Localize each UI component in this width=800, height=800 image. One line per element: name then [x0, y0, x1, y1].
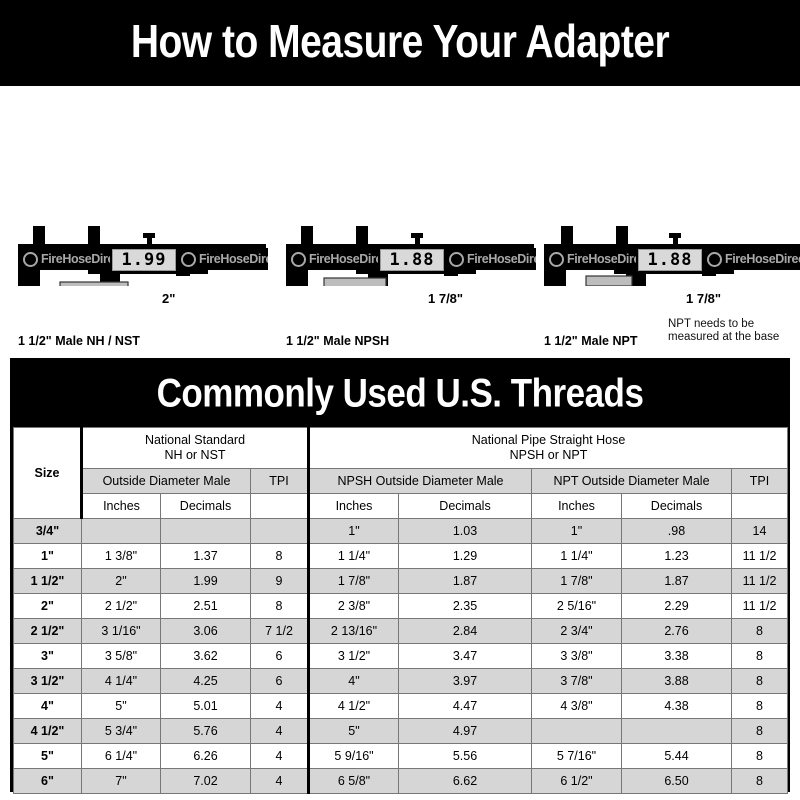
- cell-npt_dec: .98: [622, 519, 732, 544]
- cell-npt_dec: 1.87: [622, 569, 732, 594]
- cell-nh_tpi: [251, 519, 309, 544]
- watermark-text: FireHoseDirect: [199, 252, 268, 266]
- cell-npsh_in: 1 1/4": [309, 544, 399, 569]
- col-header-np-tpi: TPI: [732, 469, 788, 494]
- npt-note-line-1: NPT needs to be: [668, 318, 754, 332]
- cell-np_tpi: 8: [732, 694, 788, 719]
- col-header-npsh-outside-diameter-male: NPSH Outside Diameter Male: [309, 469, 532, 494]
- cell-nh_dec: 3.62: [161, 644, 251, 669]
- watermark-text: FireHoseDirect: [725, 252, 800, 266]
- table-row: 4 1/2"5 3/4"5.7645"4.978: [14, 719, 788, 744]
- cell-nh_dec: 1.37: [161, 544, 251, 569]
- cell-npt_dec: 2.76: [622, 619, 732, 644]
- caliper-illustration-1: 1.99 FireHoseDirect FireHoseDirect: [0, 86, 266, 286]
- cell-nh_in: [82, 519, 161, 544]
- caliper-illustration-3: 1.88 FireHoseDirect FireHoseDirect: [536, 86, 800, 286]
- col-header-npsh-inches: Inches: [309, 494, 399, 519]
- table-row: 1"1 3/8"1.3781 1/4"1.291 1/4"1.2311 1/2: [14, 544, 788, 569]
- cell-np_tpi: 8: [732, 719, 788, 744]
- cell-nh_in: 5": [82, 694, 161, 719]
- threads-table-head: Size National Standard NH or NST Nationa…: [14, 428, 788, 519]
- cell-nh_tpi: 4: [251, 694, 309, 719]
- group-nh-line-1: National Standard: [83, 433, 307, 448]
- cell-npt_dec: 1.23: [622, 544, 732, 569]
- cell-np_tpi: 8: [732, 744, 788, 769]
- cell-npsh_in: 3 1/2": [309, 644, 399, 669]
- cell-size: 1": [14, 544, 82, 569]
- cell-npt_dec: 2.29: [622, 594, 732, 619]
- cell-nh_tpi: 7 1/2: [251, 619, 309, 644]
- watermark-text: FireHoseDirect: [467, 252, 536, 266]
- table-row: 1 1/2"2"1.9991 7/8"1.871 7/8"1.8711 1/2: [14, 569, 788, 594]
- cell-npt_in: 1 7/8": [532, 569, 622, 594]
- col-header-npt-outside-diameter-male: NPT Outside Diameter Male: [532, 469, 732, 494]
- caliper-lcd-2: 1.88: [380, 249, 444, 271]
- cell-npsh_dec: 3.47: [399, 644, 532, 669]
- threads-table-title: Commonly Used U.S. Threads: [157, 371, 644, 417]
- cell-size: 6": [14, 769, 82, 794]
- page-title: How to Measure Your Adapter: [131, 17, 669, 69]
- cell-nh_in: 5 3/4": [82, 719, 161, 744]
- cell-size: 3 1/2": [14, 669, 82, 694]
- cell-np_tpi: 8: [732, 619, 788, 644]
- group-np-line-1: National Pipe Straight Hose: [310, 433, 787, 448]
- cell-npsh_dec: 6.62: [399, 769, 532, 794]
- cell-nh_dec: 2.51: [161, 594, 251, 619]
- cell-nh_dec: 5.01: [161, 694, 251, 719]
- cell-npsh_dec: 2.35: [399, 594, 532, 619]
- cell-npsh_dec: 4.47: [399, 694, 532, 719]
- watermark-text: FireHoseDirect: [41, 252, 110, 266]
- table-header-row-subgroups: Outside Diameter Male TPI NPSH Outside D…: [14, 469, 788, 494]
- col-header-nh-inches: Inches: [82, 494, 161, 519]
- table-row: 6"7"7.0246 5/8"6.626 1/2"6.508: [14, 769, 788, 794]
- col-header-npt-decimals: Decimals: [622, 494, 732, 519]
- caliper-lcd-3: 1.88: [638, 249, 702, 271]
- measurement-fraction-2: 1 7/8": [428, 291, 463, 306]
- flame-logo-icon: [23, 252, 38, 267]
- cell-np_tpi: 11 1/2: [732, 544, 788, 569]
- cell-npt_in: 5 7/16": [532, 744, 622, 769]
- col-group-national-standard: National Standard NH or NST: [82, 428, 309, 469]
- cell-npt_in: 2 5/16": [532, 594, 622, 619]
- table-row: 3"3 5/8"3.6263 1/2"3.473 3/8"3.388: [14, 644, 788, 669]
- cell-npsh_in: 1 7/8": [309, 569, 399, 594]
- watermark-text: FireHoseDirect: [309, 252, 378, 266]
- cell-npsh_in: 6 5/8": [309, 769, 399, 794]
- cell-npt_in: 3 7/8": [532, 669, 622, 694]
- cell-nh_in: 4 1/4": [82, 669, 161, 694]
- cell-np_tpi: 8: [732, 644, 788, 669]
- cell-size: 4 1/2": [14, 719, 82, 744]
- diagram-caption-3: 1 1/2" Male NPT: [544, 334, 637, 348]
- cell-npsh_dec: 3.97: [399, 669, 532, 694]
- threads-table: Size National Standard NH or NST Nationa…: [13, 427, 788, 794]
- cell-npt_dec: 4.38: [622, 694, 732, 719]
- caliper-lcd-1: 1.99: [112, 249, 176, 271]
- cell-nh_dec: 1.99: [161, 569, 251, 594]
- col-header-nh-outside-diameter-male: Outside Diameter Male: [82, 469, 251, 494]
- table-header-row-units: Inches Decimals Inches Decimals Inches D…: [14, 494, 788, 519]
- cell-nh_tpi: 8: [251, 544, 309, 569]
- cell-size: 3/4": [14, 519, 82, 544]
- cell-nh_in: 3 1/16": [82, 619, 161, 644]
- measurement-fraction-1: 2": [162, 291, 175, 306]
- cell-nh_dec: 5.76: [161, 719, 251, 744]
- cell-nh_dec: 3.06: [161, 619, 251, 644]
- cell-nh_dec: 7.02: [161, 769, 251, 794]
- cell-npt_in: [532, 719, 622, 744]
- group-nh-line-2: NH or NST: [83, 448, 307, 463]
- col-header-npt-inches: Inches: [532, 494, 622, 519]
- cell-np_tpi: 14: [732, 519, 788, 544]
- cell-npt_dec: 3.38: [622, 644, 732, 669]
- threads-table-section: Commonly Used U.S. Threads Size National…: [10, 358, 790, 792]
- col-header-np-tpi-blank: [732, 494, 788, 519]
- cell-np_tpi: 8: [732, 769, 788, 794]
- measurement-fraction-3: 1 7/8": [686, 291, 721, 306]
- cell-nh_dec: 6.26: [161, 744, 251, 769]
- table-header-row-groups: Size National Standard NH or NST Nationa…: [14, 428, 788, 469]
- col-header-nh-tpi: TPI: [251, 469, 309, 494]
- flame-logo-icon: [449, 252, 464, 267]
- col-group-national-pipe-straight-hose: National Pipe Straight Hose NPSH or NPT: [309, 428, 788, 469]
- cell-nh_tpi: 4: [251, 769, 309, 794]
- cell-npsh_dec: 4.97: [399, 719, 532, 744]
- cell-npsh_in: 4": [309, 669, 399, 694]
- diagram-caption-2: 1 1/2" Male NPSH: [286, 334, 389, 348]
- cell-npsh_in: 4 1/2": [309, 694, 399, 719]
- cell-npsh_in: 1": [309, 519, 399, 544]
- table-row: 3 1/2"4 1/4"4.2564"3.973 7/8"3.888: [14, 669, 788, 694]
- cell-npsh_in: 2 3/8": [309, 594, 399, 619]
- table-row: 4"5"5.0144 1/2"4.474 3/8"4.388: [14, 694, 788, 719]
- threads-table-title-bar: Commonly Used U.S. Threads: [13, 361, 787, 427]
- table-row: 3/4"1"1.031".9814: [14, 519, 788, 544]
- table-row: 5"6 1/4"6.2645 9/16"5.565 7/16"5.448: [14, 744, 788, 769]
- flame-logo-icon: [707, 252, 722, 267]
- flame-logo-icon: [291, 252, 306, 267]
- col-header-nh-tpi-blank: [251, 494, 309, 519]
- cell-np_tpi: 8: [732, 669, 788, 694]
- cell-nh_tpi: 6: [251, 644, 309, 669]
- cell-np_tpi: 11 1/2: [732, 569, 788, 594]
- cell-nh_tpi: 4: [251, 719, 309, 744]
- watermark-strip-3a: FireHoseDirect: [544, 248, 636, 270]
- cell-size: 5": [14, 744, 82, 769]
- threads-table-body: 3/4"1"1.031".98141"1 3/8"1.3781 1/4"1.29…: [14, 519, 788, 794]
- watermark-strip-2b: FireHoseDirect: [444, 248, 536, 270]
- diagram-panel-npt: 1.88 FireHoseDirect FireHoseDirect 1 7/8…: [536, 86, 800, 352]
- cell-nh_in: 1 3/8": [82, 544, 161, 569]
- cell-npt_dec: [622, 719, 732, 744]
- watermark-strip-3b: FireHoseDirect: [702, 248, 800, 270]
- cell-nh_dec: [161, 519, 251, 544]
- cell-npsh_in: 5": [309, 719, 399, 744]
- watermark-strip-1a: FireHoseDirect: [18, 248, 110, 270]
- cell-npsh_dec: 1.03: [399, 519, 532, 544]
- watermark-strip-1b: FireHoseDirect: [176, 248, 268, 270]
- cell-nh_tpi: 6: [251, 669, 309, 694]
- flame-logo-icon: [181, 252, 196, 267]
- diagram-panel-nh-nst: 1.99 FireHoseDirect FireHoseDirect 2" 1 …: [0, 86, 266, 352]
- cell-nh_tpi: 4: [251, 744, 309, 769]
- cell-nh_tpi: 8: [251, 594, 309, 619]
- cell-npt_in: 1": [532, 519, 622, 544]
- cell-np_tpi: 11 1/2: [732, 594, 788, 619]
- col-header-npsh-decimals: Decimals: [399, 494, 532, 519]
- cell-npt_in: 3 3/8": [532, 644, 622, 669]
- table-row: 2 1/2"3 1/16"3.067 1/22 13/16"2.842 3/4"…: [14, 619, 788, 644]
- cell-size: 2": [14, 594, 82, 619]
- cell-size: 3": [14, 644, 82, 669]
- cell-npsh_dec: 5.56: [399, 744, 532, 769]
- cell-npt_in: 4 3/8": [532, 694, 622, 719]
- npt-note-line-2: measured at the base: [668, 331, 779, 345]
- diagram-caption-1: 1 1/2" Male NH / NST: [18, 334, 140, 348]
- cell-nh_in: 3 5/8": [82, 644, 161, 669]
- cell-nh_tpi: 9: [251, 569, 309, 594]
- col-header-size: Size: [14, 428, 82, 519]
- cell-npsh_dec: 1.87: [399, 569, 532, 594]
- flame-logo-icon: [549, 252, 564, 267]
- cell-nh_in: 2 1/2": [82, 594, 161, 619]
- cell-size: 4": [14, 694, 82, 719]
- cell-npsh_dec: 2.84: [399, 619, 532, 644]
- cell-npt_dec: 3.88: [622, 669, 732, 694]
- cell-nh_dec: 4.25: [161, 669, 251, 694]
- watermark-text: FireHoseDirect: [567, 252, 636, 266]
- cell-npt_in: 6 1/2": [532, 769, 622, 794]
- cell-npt_dec: 6.50: [622, 769, 732, 794]
- cell-npt_in: 1 1/4": [532, 544, 622, 569]
- caliper-illustration-2: 1.88 FireHoseDirect FireHoseDirect: [268, 86, 534, 286]
- cell-npt_dec: 5.44: [622, 744, 732, 769]
- cell-npsh_in: 5 9/16": [309, 744, 399, 769]
- cell-nh_in: 2": [82, 569, 161, 594]
- cell-nh_in: 7": [82, 769, 161, 794]
- page-header: How to Measure Your Adapter: [0, 0, 800, 86]
- cell-npsh_in: 2 13/16": [309, 619, 399, 644]
- diagram-panel-npsh: 1.88 FireHoseDirect FireHoseDirect 1 7/8…: [268, 86, 534, 352]
- col-header-nh-decimals: Decimals: [161, 494, 251, 519]
- diagram-band: 1.99 FireHoseDirect FireHoseDirect 2" 1 …: [0, 86, 800, 352]
- cell-nh_in: 6 1/4": [82, 744, 161, 769]
- table-row: 2"2 1/2"2.5182 3/8"2.352 5/16"2.2911 1/2: [14, 594, 788, 619]
- cell-size: 1 1/2": [14, 569, 82, 594]
- cell-size: 2 1/2": [14, 619, 82, 644]
- group-np-line-2: NPSH or NPT: [310, 448, 787, 463]
- cell-npt_in: 2 3/4": [532, 619, 622, 644]
- watermark-strip-2a: FireHoseDirect: [286, 248, 378, 270]
- cell-npsh_dec: 1.29: [399, 544, 532, 569]
